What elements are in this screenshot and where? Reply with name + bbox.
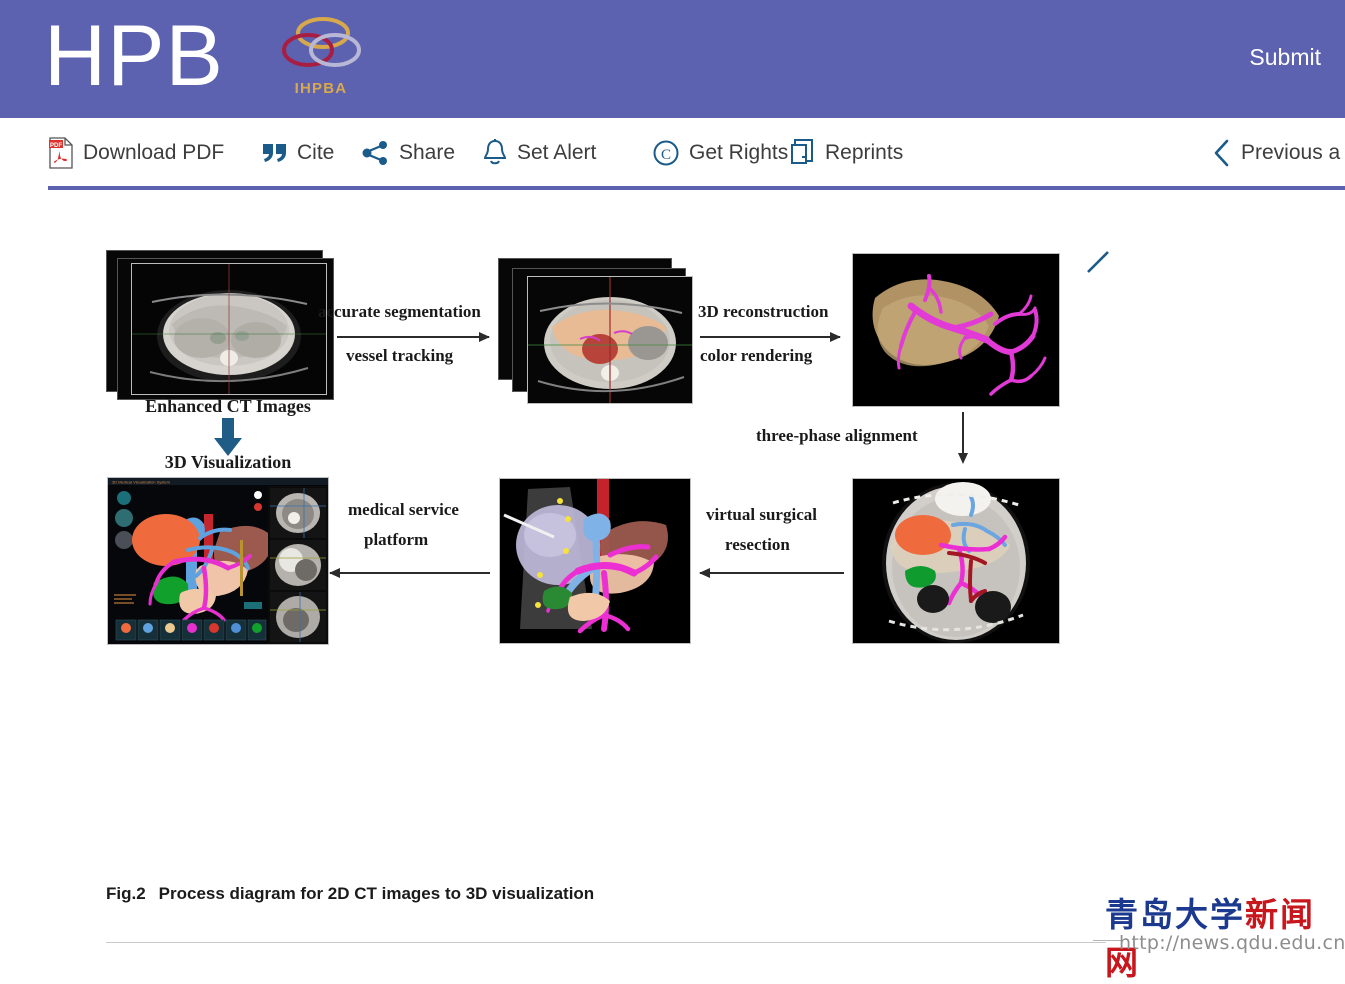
expand-arrows-icon[interactable]	[1082, 246, 1116, 280]
share-button[interactable]: Share	[362, 118, 455, 188]
segmentation-arrow-line	[337, 336, 489, 338]
reprints-label: Reprints	[825, 141, 903, 165]
site-header: HPB IHPBA Submit	[0, 0, 1345, 118]
watermark-rule	[1093, 940, 1121, 941]
segmentation-line2: vessel tracking	[346, 346, 453, 366]
figure-caption-text: Process diagram for 2D CT images to 3D v…	[159, 884, 595, 903]
previous-article-label: Previous a	[1241, 141, 1340, 165]
label-three-d-visualization: 3D Visualization	[106, 452, 350, 473]
ihpba-rings-icon	[276, 14, 366, 80]
alignment-line1: three-phase alignment	[756, 426, 918, 446]
brand-logo-hpb[interactable]: HPB	[44, 8, 224, 104]
watermark-url: http://news.qdu.edu.cn	[1119, 932, 1345, 954]
reconstruction-line1: 3D reconstruction	[698, 302, 828, 322]
download-pdf-button[interactable]: PDF Download PDF	[48, 118, 224, 188]
reconstruction-line2: color rendering	[700, 346, 812, 366]
article-toolbar: PDF Download PDF Cite	[0, 118, 1345, 188]
resection-line2: resection	[725, 535, 790, 555]
pdf-file-icon: PDF	[48, 137, 74, 169]
figure-caption: Fig.2Process diagram for 2D CT images to…	[106, 884, 594, 904]
caption-divider	[106, 942, 1106, 943]
figure-number: Fig.2	[106, 884, 146, 903]
set-alert-label: Set Alert	[517, 141, 596, 165]
submit-button[interactable]: Submit	[1249, 44, 1321, 71]
reprints-button[interactable]: Reprints	[790, 118, 903, 188]
figure-container: Enhanced CT Images 3D Visualization accu…	[0, 190, 1345, 776]
label-enhanced-ct-images: Enhanced CT Images	[106, 396, 350, 417]
download-pdf-label: Download PDF	[83, 141, 224, 165]
platform-line2: platform	[364, 530, 428, 550]
resection-line1: virtual surgical	[706, 505, 817, 525]
watermark-cn-blue: 青岛大学	[1105, 895, 1245, 934]
get-rights-button[interactable]: C Get Rights	[652, 118, 788, 188]
watermark: 青岛大学新闻网 http://news.qdu.edu.cn	[1105, 888, 1337, 962]
bell-icon	[482, 138, 508, 168]
svg-text:C: C	[661, 147, 671, 163]
page-root: HPB IHPBA Submit PDF Download	[0, 0, 1345, 776]
get-rights-label: Get Rights	[689, 141, 788, 165]
ihpba-logo-text: IHPBA	[276, 80, 366, 97]
cite-button[interactable]: Cite	[262, 118, 334, 188]
step-three-d-reconstruction	[852, 253, 1060, 407]
chevron-left-icon	[1212, 138, 1232, 168]
platform-line1: medical service	[348, 500, 459, 520]
alignment-arrow-line	[962, 412, 964, 454]
copyright-icon: C	[652, 139, 680, 167]
svg-text:PDF: PDF	[50, 143, 62, 149]
svg-text:3D Medical Visualization Syste: 3D Medical Visualization System	[112, 480, 171, 485]
step-three-phase-fusion	[852, 478, 1060, 644]
resection-arrow-line	[700, 572, 844, 574]
platform-arrow-line	[330, 572, 490, 574]
segmentation-line1: accurate segmentation	[318, 302, 481, 322]
reprints-pages-icon	[790, 138, 816, 168]
cite-label: Cite	[297, 141, 334, 165]
step-virtual-resection	[499, 478, 691, 644]
previous-article-button[interactable]: Previous a	[1212, 118, 1340, 188]
set-alert-button[interactable]: Set Alert	[482, 118, 596, 188]
step-three-d-visualization: 3D Medical Visualization System	[107, 477, 329, 645]
reconstruction-arrow-line	[700, 336, 840, 338]
share-nodes-icon	[362, 140, 390, 166]
ihpba-logo[interactable]: IHPBA	[276, 14, 366, 106]
quote-marks-icon	[262, 142, 288, 164]
share-label: Share	[399, 141, 455, 165]
